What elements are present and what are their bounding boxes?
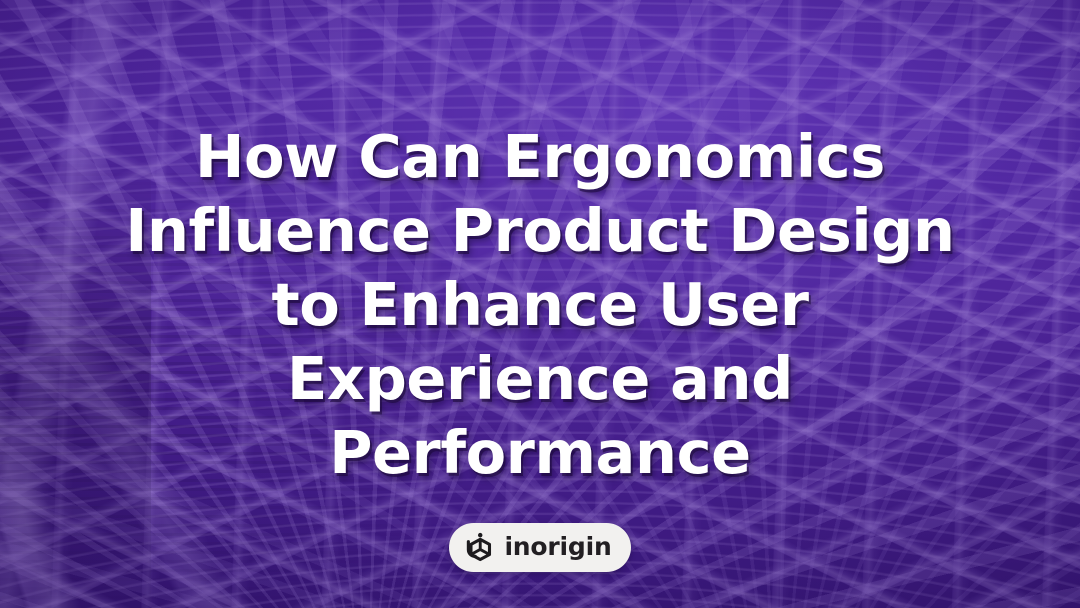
title-line-3: to Enhance User — [40, 268, 1040, 342]
inorigin-logo[interactable]: inorigin — [449, 523, 630, 572]
logo-area: inorigin — [0, 523, 1080, 572]
hero-content: How Can Ergonomics Influence Product Des… — [0, 0, 1080, 608]
inorigin-cube-icon — [464, 532, 495, 563]
title-line-1: How Can Ergonomics — [40, 120, 1040, 194]
title-line-5: Performance — [40, 416, 1040, 490]
logo-wordmark: inorigin — [504, 534, 611, 561]
title-line-2: Influence Product Design — [40, 194, 1040, 268]
title-line-4: Experience and — [40, 342, 1040, 416]
page-title: How Can Ergonomics Influence Product Des… — [0, 120, 1080, 490]
hero-banner: How Can Ergonomics Influence Product Des… — [0, 0, 1080, 608]
